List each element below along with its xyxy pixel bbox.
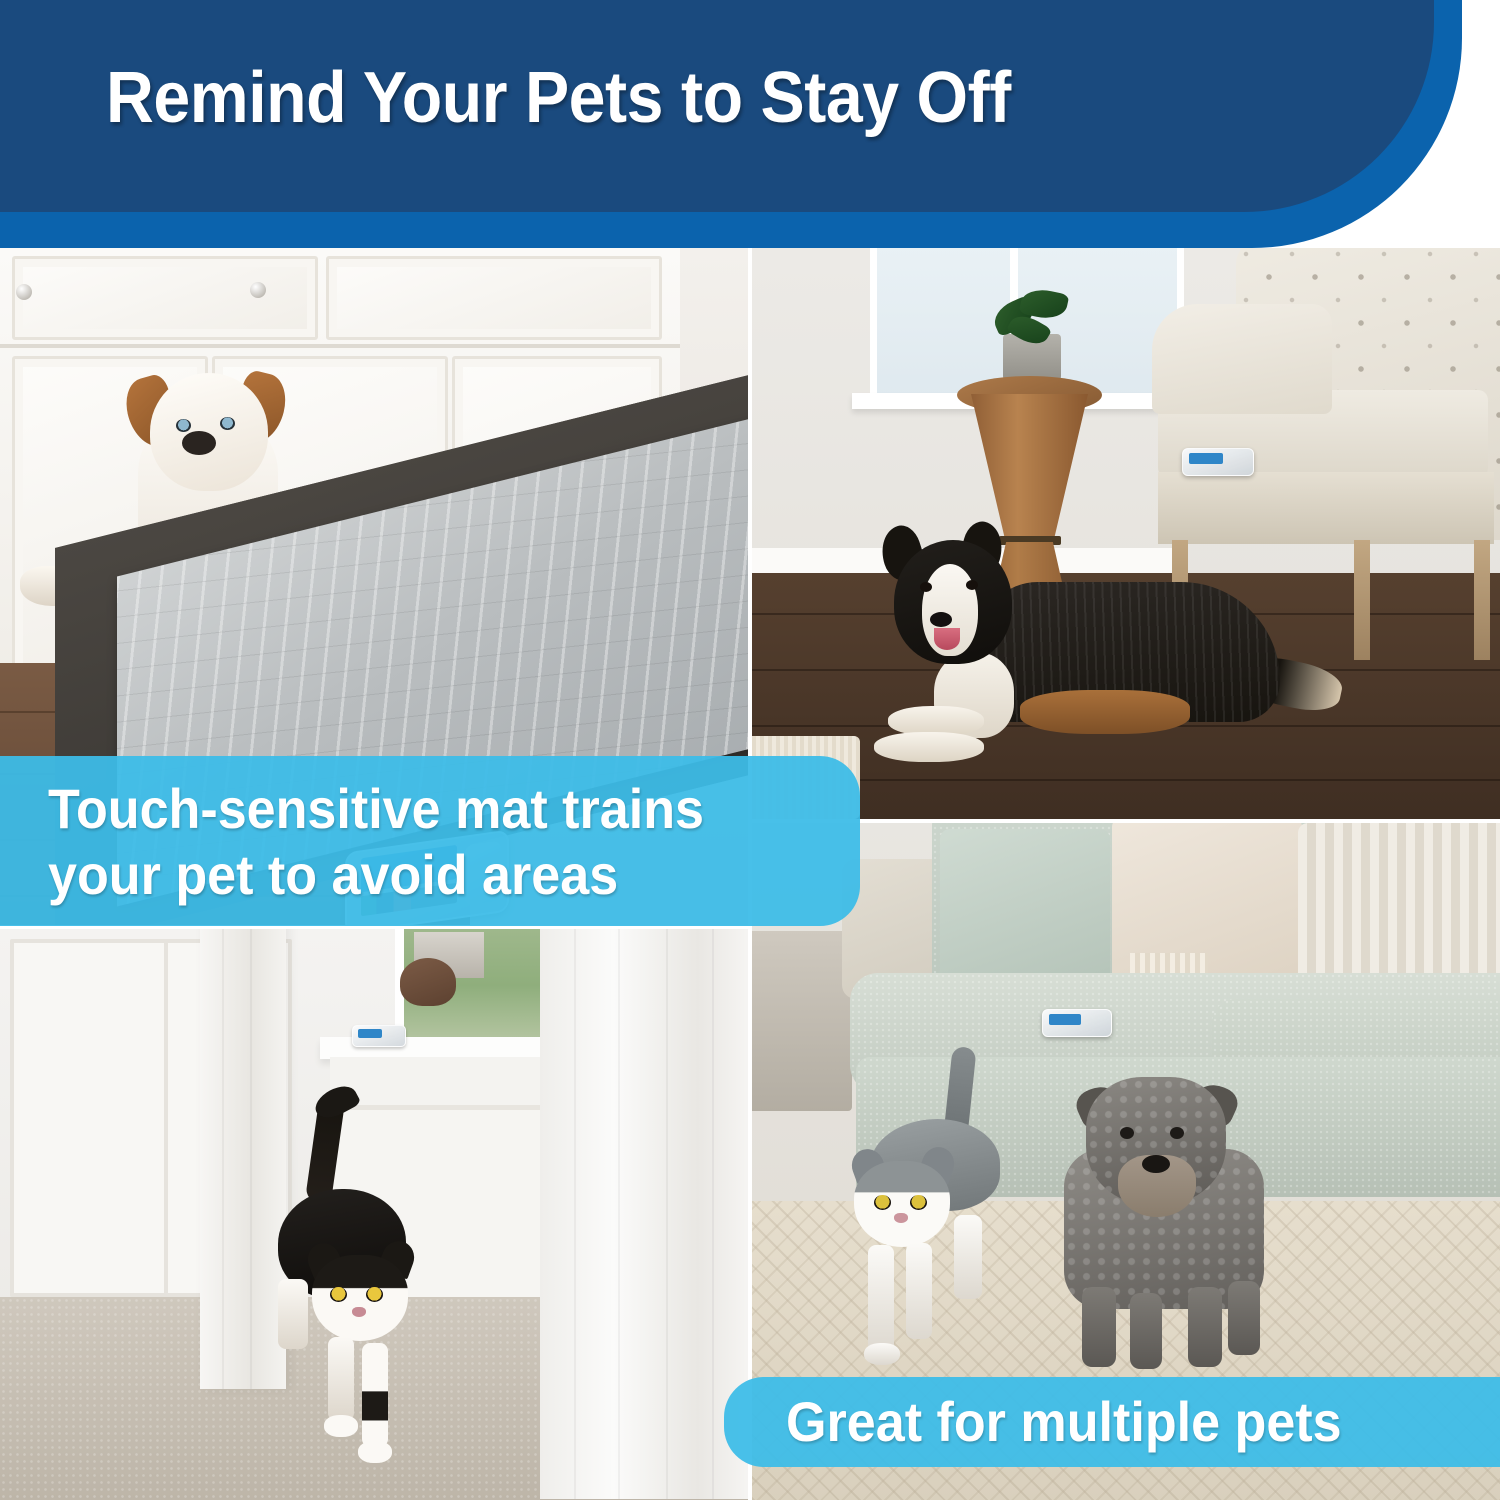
product-feature-image: Remind Your Pets to Stay Off Touch-sensi… xyxy=(0,0,1500,1500)
caption-line-1: Great for multiple pets xyxy=(786,1389,1342,1455)
page-headline: Remind Your Pets to Stay Off xyxy=(106,62,1011,134)
dog-gray-terrier xyxy=(1042,1071,1302,1391)
photo-living-room-collie xyxy=(752,248,1500,819)
caption-touch-sensitive: Touch-sensitive mat trains your pet to a… xyxy=(0,756,860,926)
curtain-right xyxy=(540,929,748,1499)
mat-control-module xyxy=(352,1025,406,1047)
cat-gray-white xyxy=(844,1085,1024,1385)
cat-head xyxy=(854,1161,950,1247)
cat-tuxedo xyxy=(236,1147,436,1467)
dog-border-collie xyxy=(870,520,1300,780)
photo-window-cat xyxy=(0,929,748,1500)
mat-control-module xyxy=(1042,1009,1112,1037)
cat-head xyxy=(312,1255,408,1341)
chair-arm xyxy=(1152,304,1332,414)
caption-line-2: your pet to avoid areas xyxy=(48,842,704,908)
caption-multiple-pets: Great for multiple pets xyxy=(724,1377,1500,1467)
mat-control-module xyxy=(1182,448,1254,476)
pillow xyxy=(1298,823,1500,993)
caption-line-1: Touch-sensitive mat trains xyxy=(48,776,704,842)
pillow xyxy=(940,829,1110,989)
